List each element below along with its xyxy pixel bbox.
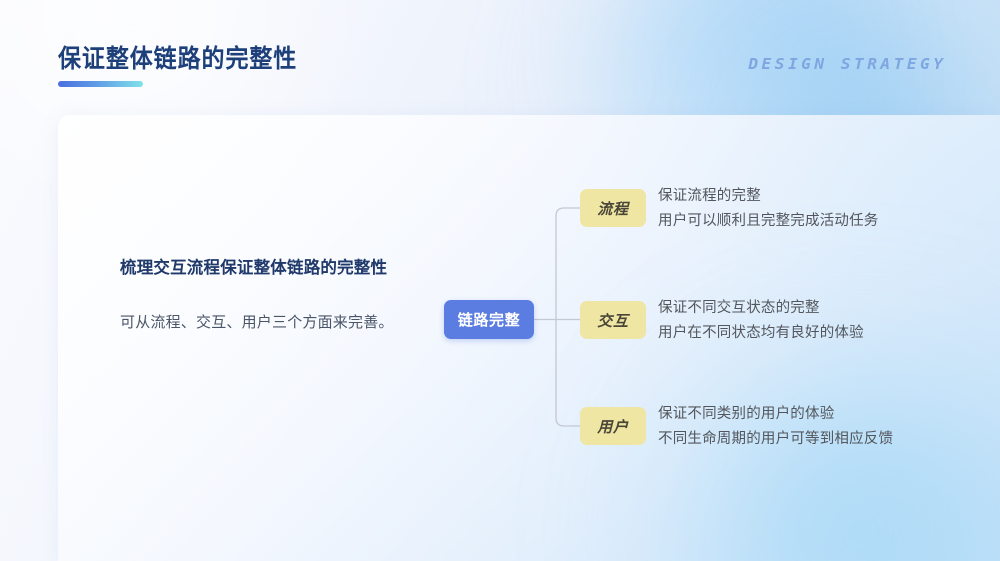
mindmap-root-node[interactable]: 链路完整	[444, 300, 534, 339]
connector-branch-3	[556, 320, 580, 427]
mindmap-branch-desc-interaction: 保证不同交互状态的完整 用户在不同状态均有良好的体验	[658, 296, 864, 346]
page-title: 保证整体链路的完整性	[58, 44, 297, 74]
lead-body: 可从流程、交互、用户三个方面来完善。	[120, 309, 402, 336]
content-panel: 链路完整 流程 保证流程的完整 用户可以顺利且完整完成活动任务 交互 保证不同交…	[58, 115, 1000, 561]
lead-text-block: 梳理交互流程保证整体链路的完整性 可从流程、交互、用户三个方面来完善。	[120, 255, 402, 336]
desc-line: 保证不同交互状态的完整	[658, 296, 864, 321]
title-block: 保证整体链路的完整性	[58, 44, 318, 87]
mindmap-branch-desc-process: 保证流程的完整 用户可以顺利且完整完成活动任务	[658, 184, 879, 234]
lead-heading: 梳理交互流程保证整体链路的完整性	[120, 255, 402, 281]
connector-branch-1	[556, 208, 580, 320]
mindmap: 链路完整 流程 保证流程的完整 用户可以顺利且完整完成活动任务 交互 保证不同交…	[58, 115, 1000, 561]
slide-header: 保证整体链路的完整性 DESIGN STRATEGY	[0, 0, 1000, 115]
desc-line: 用户可以顺利且完整完成活动任务	[658, 209, 879, 234]
header-eyebrow-label: DESIGN STRATEGY	[748, 55, 946, 73]
desc-line: 保证不同类别的用户的体验	[658, 402, 893, 427]
desc-line: 保证流程的完整	[658, 184, 879, 209]
desc-line: 不同生命周期的用户可等到相应反馈	[658, 427, 893, 452]
desc-line: 用户在不同状态均有良好的体验	[658, 321, 864, 346]
mindmap-branch-node-process[interactable]: 流程	[580, 189, 646, 227]
title-underline-bar	[58, 81, 143, 87]
slide-canvas: 保证整体链路的完整性 DESIGN STRATEGY 链路完整 流程 保证流程的…	[0, 0, 1000, 561]
mindmap-branch-node-interaction[interactable]: 交互	[580, 301, 646, 339]
mindmap-branch-desc-user: 保证不同类别的用户的体验 不同生命周期的用户可等到相应反馈	[658, 402, 893, 452]
mindmap-branch-node-user[interactable]: 用户	[580, 407, 646, 445]
